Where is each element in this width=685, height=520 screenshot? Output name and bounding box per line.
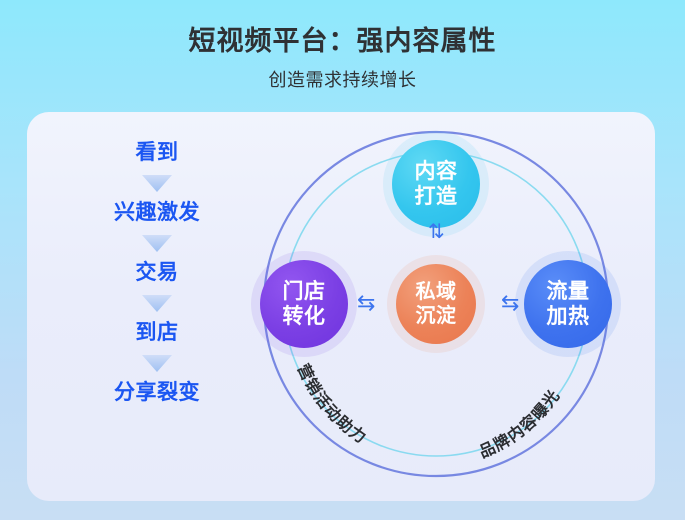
node-traffic-boost[interactable]: 流量 加热 xyxy=(524,260,612,348)
node-traffic-boost-line1: 流量 xyxy=(547,279,590,304)
node-private-domain-line1: 私域 xyxy=(416,280,457,304)
node-private-domain[interactable]: 私域 沉淀 xyxy=(396,264,476,344)
funnel-step-1: 看到 xyxy=(136,140,179,166)
bidirectional-arrow-left-icon: ⇆ xyxy=(357,293,375,315)
bidirectional-arrow-right-icon: ⇆ xyxy=(501,293,519,315)
cycle-diagram: 营销活动助力 品牌内容曝光 内容 打造 门店 转化 流量 加热 私域 沉淀 xyxy=(252,120,652,495)
funnel-flow-list: 看到 兴趣激发 交易 到店 分享裂变 xyxy=(57,140,257,470)
node-traffic-boost-line2: 加热 xyxy=(547,304,590,329)
funnel-step-3: 交易 xyxy=(136,260,179,286)
funnel-step-2: 兴趣激发 xyxy=(114,200,200,226)
page-subtitle: 创造需求持续增长 xyxy=(0,66,685,92)
node-content-creation-line1: 内容 xyxy=(415,159,458,184)
node-store-conversion[interactable]: 门店 转化 xyxy=(260,260,348,348)
node-content-creation[interactable]: 内容 打造 xyxy=(392,140,480,228)
node-store-conversion-line1: 门店 xyxy=(283,279,326,304)
node-private-domain-line2: 沉淀 xyxy=(416,304,457,328)
chevron-down-icon xyxy=(142,355,172,372)
funnel-step-4: 到店 xyxy=(136,320,179,346)
funnel-step-5: 分享裂变 xyxy=(114,380,200,406)
node-content-creation-line2: 打造 xyxy=(415,184,458,209)
page-title: 短视频平台：强内容属性 xyxy=(0,24,685,58)
chevron-down-icon xyxy=(142,175,172,192)
content-panel: 看到 兴趣激发 交易 到店 分享裂变 营销活动助力 品牌内容曝光 xyxy=(27,112,655,501)
node-store-conversion-line2: 转化 xyxy=(283,304,326,329)
slide-header: 短视频平台：强内容属性 创造需求持续增长 xyxy=(0,0,685,112)
chevron-down-icon xyxy=(142,235,172,252)
chevron-down-icon xyxy=(142,295,172,312)
bidirectional-arrow-vertical-icon: ⇅ xyxy=(428,220,445,242)
